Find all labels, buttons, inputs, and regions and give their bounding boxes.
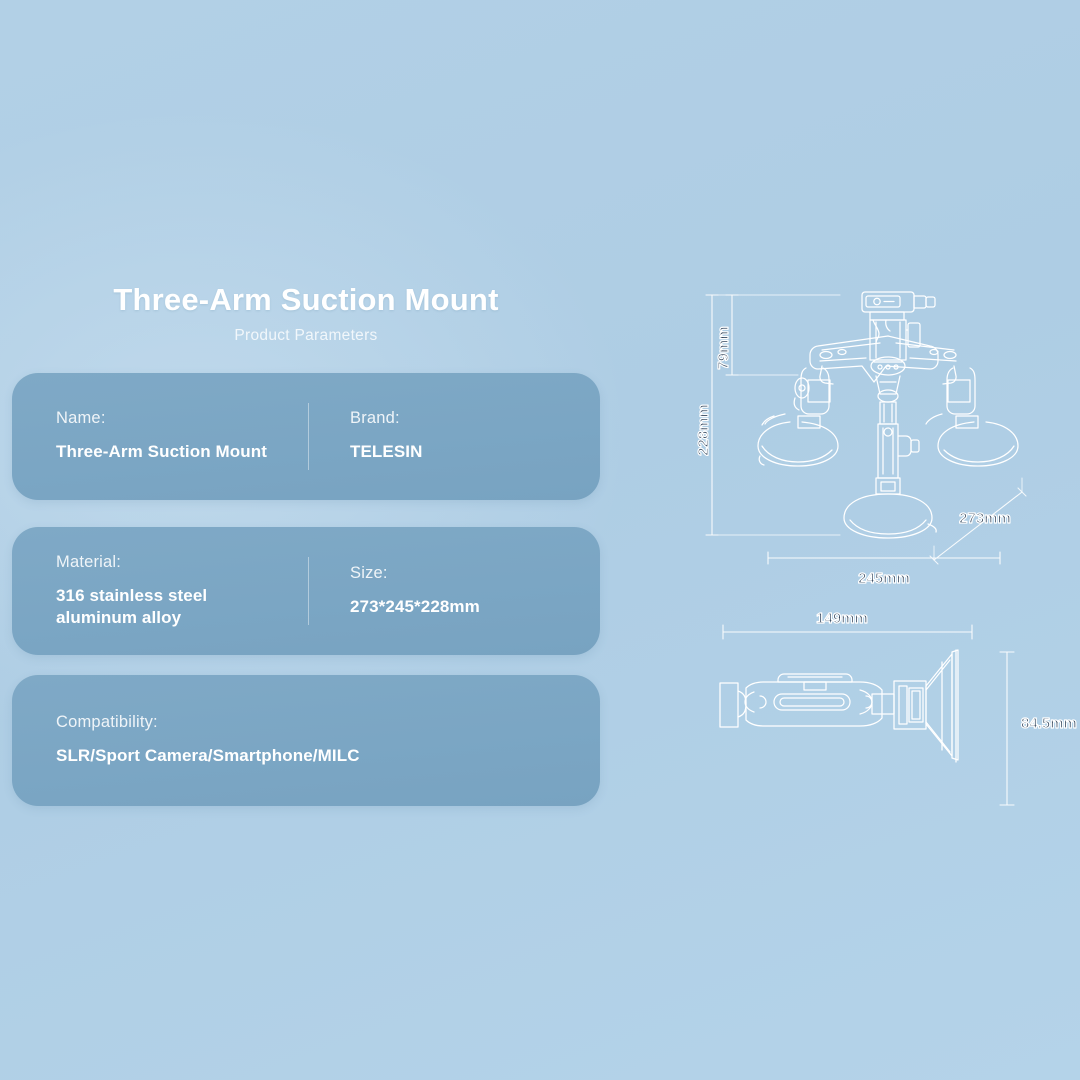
spec-value-compatibility: SLR/Sport Camera/Smartphone/MILC: [56, 745, 582, 767]
dimension-label-149mm: 149mm: [816, 610, 868, 627]
spec-cell-brand: Brand: TELESIN: [308, 373, 600, 500]
front-view-dimension-labels: 79mm 228mm 273mm 245mm: [695, 326, 1011, 587]
spec-label-size: Size:: [350, 564, 582, 583]
page-title: Three-Arm Suction Mount: [12, 282, 600, 318]
side-view-dimension-labels: 149mm 84.5mm: [816, 610, 1077, 732]
spec-value-name: Three-Arm Suction Mount: [56, 441, 290, 463]
dimension-label-273mm: 273mm: [959, 510, 1011, 527]
three-arm-suction-mount-front-view: [758, 292, 1018, 538]
spec-value-size: 273*245*228mm: [350, 596, 582, 618]
technical-drawings-svg: 79mm 228mm 273mm 245mm: [690, 270, 1080, 840]
spec-label-compatibility: Compatibility:: [56, 713, 582, 732]
suction-cup-arm-side-view: [720, 650, 958, 762]
product-parameters-infographic: Three-Arm Suction Mount Product Paramete…: [0, 0, 1080, 1080]
dimension-label-84-5mm: 84.5mm: [1021, 715, 1077, 732]
dimension-label-228mm: 228mm: [695, 404, 712, 456]
spec-cell-name: Name: Three-Arm Suction Mount: [12, 373, 308, 500]
spec-label-material: Material:: [56, 553, 290, 572]
side-view-dimension-lines: [723, 625, 1014, 805]
spec-value-brand: TELESIN: [350, 441, 582, 463]
spec-value-material-line1: 316 stainless steel: [56, 586, 207, 605]
spec-value-material: 316 stainless steel aluminum alloy: [56, 585, 290, 630]
spec-cell-material: Material: 316 stainless steel aluminum a…: [12, 527, 308, 655]
spec-label-brand: Brand:: [350, 409, 582, 428]
technical-drawings: 79mm 228mm 273mm 245mm: [690, 270, 1080, 840]
spec-cell-size: Size: 273*245*228mm: [308, 527, 600, 655]
dimension-label-245mm: 245mm: [858, 570, 910, 587]
header-block: Three-Arm Suction Mount Product Paramete…: [12, 282, 600, 345]
page-subtitle: Product Parameters: [12, 327, 600, 345]
spec-label-name: Name:: [56, 409, 290, 428]
spec-value-material-line2: aluminum alloy: [56, 607, 290, 629]
spec-card-name-brand: Name: Three-Arm Suction Mount Brand: TEL…: [12, 373, 600, 500]
spec-card-material-size: Material: 316 stainless steel aluminum a…: [12, 527, 600, 655]
spec-cell-compatibility: Compatibility: SLR/Sport Camera/Smartpho…: [12, 675, 600, 806]
dimension-label-79mm: 79mm: [715, 326, 732, 369]
spec-card-compatibility: Compatibility: SLR/Sport Camera/Smartpho…: [12, 675, 600, 806]
